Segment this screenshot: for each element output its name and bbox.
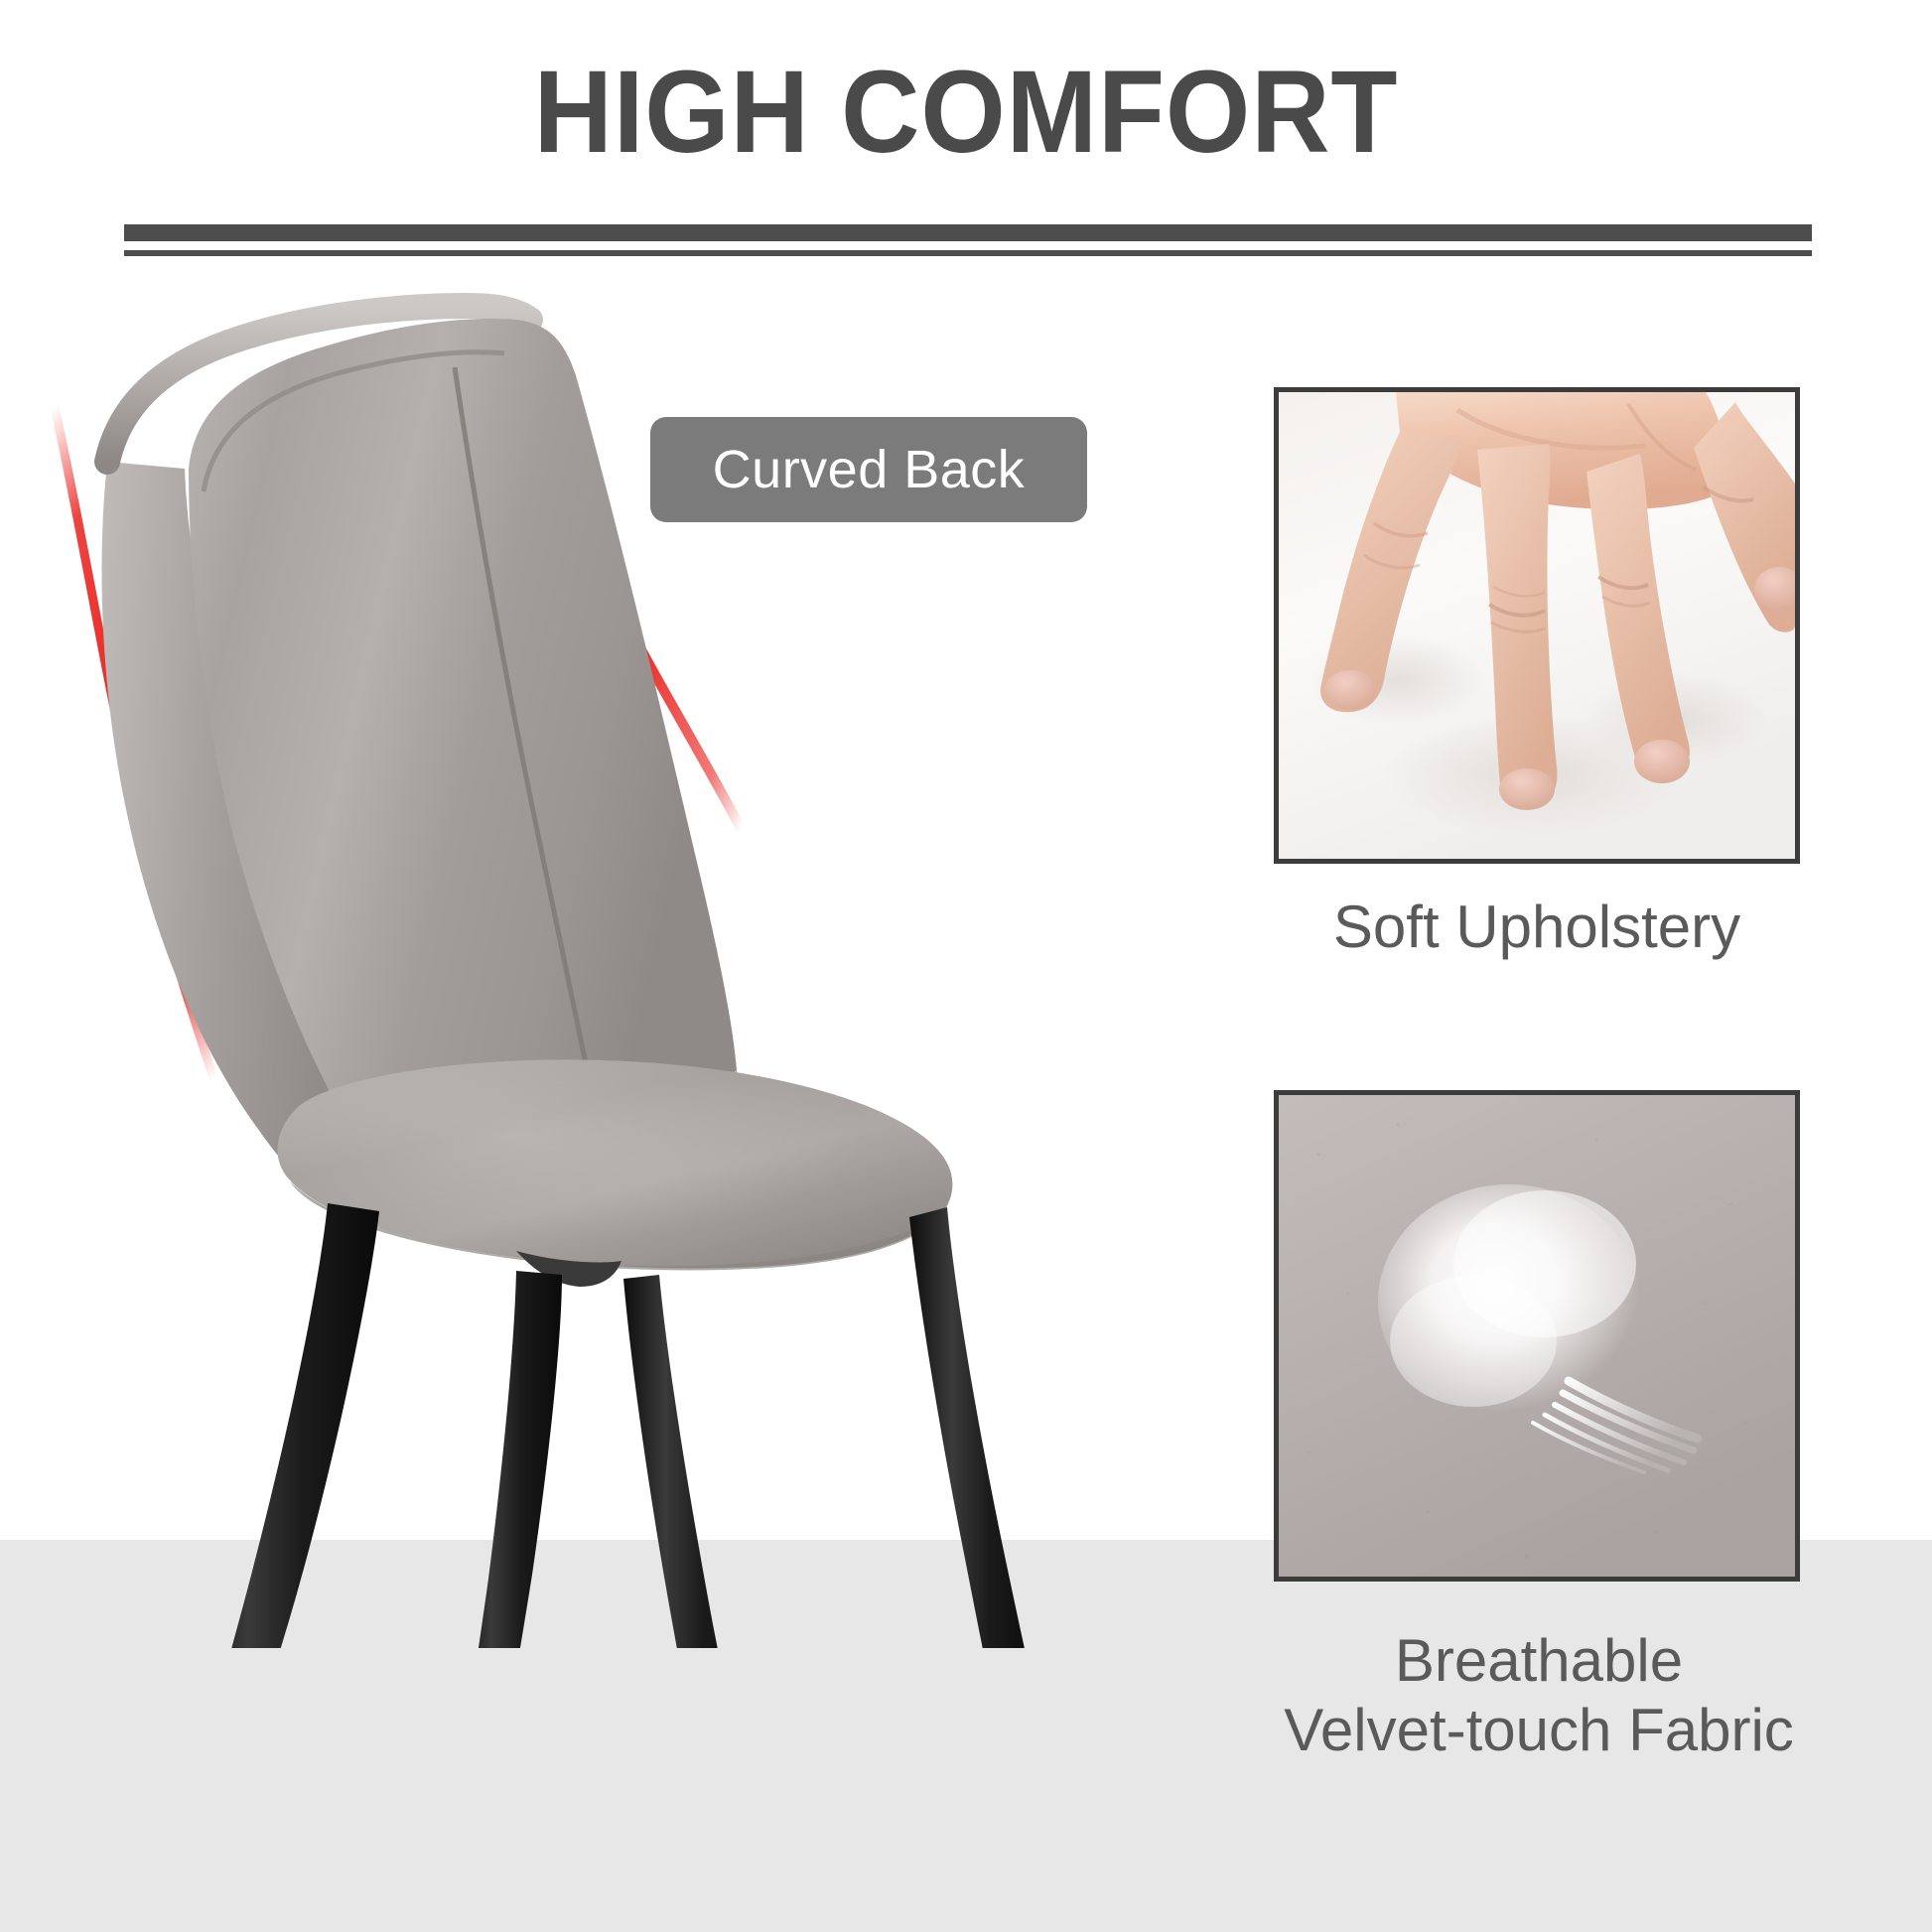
curved-back-badge: Curved Back <box>650 417 1087 522</box>
chair-seat-highlight <box>277 1059 952 1268</box>
breathable-fabric-frame <box>1274 1090 1800 1582</box>
header-rule-thin <box>124 250 1812 256</box>
breathable-fabric-caption: Breathable Velvet-touch Fabric <box>1231 1626 1847 1765</box>
chair-leg-rear-right <box>909 1207 1042 1648</box>
page-title: HIGH COMFORT <box>68 52 1864 175</box>
feather-on-velvet-illustration <box>1279 1095 1795 1577</box>
feature-column: Soft Upholstery <box>1274 387 1800 961</box>
chair-leg-front-right <box>623 1275 755 1648</box>
curved-back-badge-label: Curved Back <box>713 443 1026 496</box>
infographic-canvas: HIGH COMFORT <box>0 0 1932 1932</box>
chair-leg-front-left <box>459 1271 562 1648</box>
breathable-fabric-photo <box>1274 1090 1800 1582</box>
hand-on-foam-illustration <box>1279 392 1795 859</box>
chair-leg-rear-left <box>187 1203 379 1648</box>
header-rule-thick <box>124 224 1812 241</box>
soft-upholstery-caption: Soft Upholstery <box>1274 894 1800 961</box>
soft-upholstery-photo <box>1274 387 1800 864</box>
